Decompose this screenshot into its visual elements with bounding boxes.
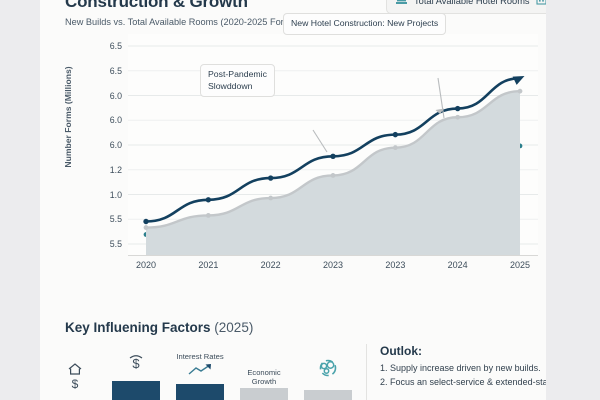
series-marker [206, 213, 211, 218]
factor-item[interactable]: $ [62, 352, 96, 400]
dollar-sign-icon: $ [125, 352, 147, 377]
recycle-network-icon [313, 357, 343, 386]
x-axis-tick: 2025 [510, 260, 530, 270]
annotation-new-projects: New Hotel Construction: New Projects [283, 13, 446, 35]
y-axis-tick: 6.5 [88, 41, 122, 51]
factors-section-title: Key Influening Factors (2025) [65, 320, 253, 335]
y-axis-label: Number Forms (Millions) [63, 42, 73, 192]
series-marker [393, 145, 398, 150]
factor-bar [304, 390, 352, 400]
page-root: Construction & Growth New Builds vs. Tot… [0, 0, 600, 400]
home-dollar-icon: $ [62, 359, 96, 396]
svg-text:$: $ [132, 356, 140, 371]
svg-text:$: $ [72, 377, 79, 391]
series-marker [455, 115, 460, 120]
factor-item[interactable] [304, 352, 352, 400]
x-axis-tick: 2024 [448, 260, 468, 270]
series-marker [393, 132, 398, 137]
y-axis-tick: 6.5 [88, 66, 122, 76]
x-axis-tick: 2022 [261, 260, 281, 270]
y-axis-ticks: 6.56.56.06.06.01.21.05.55.5 [88, 34, 122, 272]
series-marker [330, 154, 335, 159]
x-axis-tick: 2023 [323, 260, 343, 270]
y-axis-tick: 5.5 [88, 239, 122, 249]
series-marker [518, 89, 523, 94]
series-marker [143, 219, 148, 224]
factor-bar [240, 388, 288, 400]
outlook-item: 1. Supply increase driven by new builds. [380, 362, 546, 376]
series-marker [144, 225, 149, 230]
hotel-building-icon [536, 0, 546, 10]
series-marker [455, 106, 460, 111]
annotation-slowdown-line1: Post-Pandemic [208, 69, 267, 81]
chart-container: Number Forms (Millions) 6.56.56.06.06.01… [40, 34, 546, 272]
factor-label: Interest Rates [176, 352, 223, 361]
series-marker [268, 196, 273, 201]
y-axis-tick: 6.0 [88, 115, 122, 125]
y-axis-tick: 5.5 [88, 214, 122, 224]
factor-bar [176, 384, 224, 400]
factor-item-interest-rates[interactable]: Interest Rates [176, 352, 224, 400]
plot-area [128, 34, 538, 256]
outlook-item: 2. Focus an select-service & extended-st… [380, 376, 546, 390]
y-axis-tick: 6.0 [88, 140, 122, 150]
hotel-bed-icon [395, 0, 408, 10]
legend-total-available-hotel-rooms[interactable]: Total Available Hotel Rooms [386, 0, 546, 14]
series-marker [206, 197, 211, 202]
annotation-post-pandemic-slowdown: Post-Pandemic Slowddown [200, 64, 275, 97]
outlook-section: Outlok: 1. Supply increase driven by new… [380, 344, 546, 390]
factors-title-year: (2025) [214, 320, 253, 335]
series-arrowhead [513, 76, 525, 85]
annotation-slowdown-line2: Slowddown [208, 81, 267, 93]
x-axis-tick: 2020 [136, 260, 156, 270]
factor-label: Economic Growth [240, 368, 288, 386]
trend-arrow-up-icon [185, 363, 215, 382]
factor-item[interactable]: $ [112, 352, 160, 400]
y-axis-tick: 1.2 [88, 165, 122, 175]
outlook-title: Outlok: [380, 344, 546, 358]
factor-bar [112, 381, 160, 400]
chart-svg [128, 34, 538, 256]
factors-title-main: Key Influening Factors [65, 320, 211, 335]
report-card: Construction & Growth New Builds vs. Tot… [40, 0, 546, 400]
series-marker [268, 175, 273, 180]
legend-label: Total Available Hotel Rooms [414, 0, 530, 6]
x-axis-tick: 2021 [198, 260, 218, 270]
series-marker [331, 173, 336, 178]
section-divider [366, 344, 367, 400]
y-axis-tick: 1.0 [88, 190, 122, 200]
factor-item-economic-growth[interactable]: Economic Growth [240, 352, 288, 400]
factors-list: $ $ Interest Rates [62, 352, 350, 400]
y-axis-tick: 6.0 [88, 91, 122, 101]
x-axis-tick: 2023 [385, 260, 405, 270]
series-layer [143, 76, 524, 256]
